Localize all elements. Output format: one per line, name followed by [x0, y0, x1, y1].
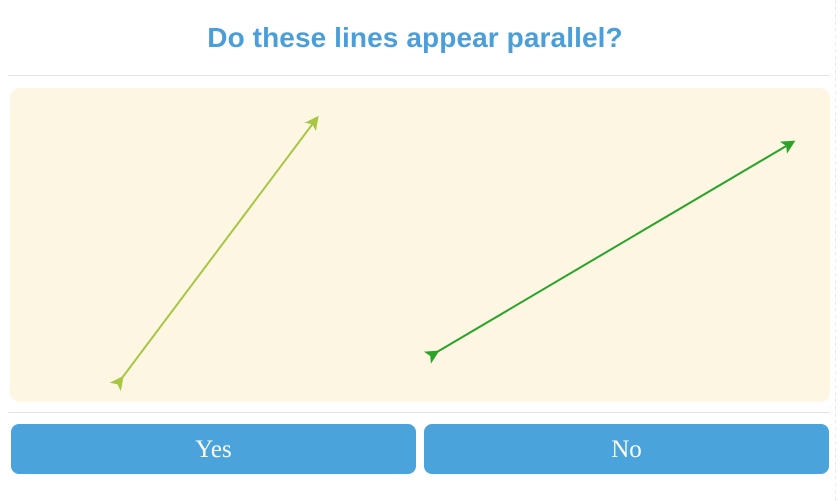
question-header: Do these lines appear parallel?	[0, 0, 830, 75]
page-edge-marker	[835, 0, 836, 501]
page-title: Do these lines appear parallel?	[207, 22, 622, 54]
answer-yes-button[interactable]: Yes	[11, 424, 416, 474]
answer-button-row: Yes No	[11, 424, 829, 474]
answer-no-button[interactable]: No	[424, 424, 829, 474]
stimulus-panel	[10, 88, 830, 402]
left-arrow-line	[122, 118, 317, 378]
header-divider	[8, 75, 830, 76]
lines-illustration	[10, 88, 830, 402]
parallel-lines-task-page: Do these lines appear parallel?	[0, 0, 840, 501]
right-arrow-line	[437, 142, 793, 352]
footer-divider	[8, 412, 830, 413]
